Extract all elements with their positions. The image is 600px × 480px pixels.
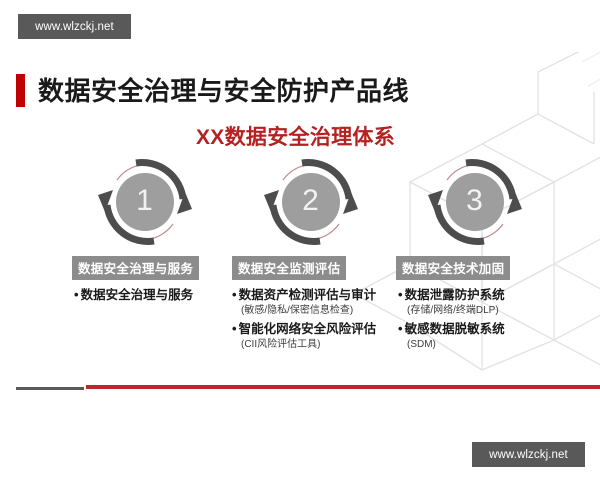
bullet-icon: • [398,321,403,338]
step-number-2: 2 [302,186,319,218]
list-item: •智能化网络安全风险评估 (CII风险评估工具) [232,321,393,351]
step-badge-1: 1 [95,152,195,252]
column-2-item-2-text: 智能化网络安全风险评估 [239,322,377,336]
column-3-item-2-sub: (SDM) [398,338,557,352]
column-2-item-2-main: •智能化网络安全风险评估 [232,321,393,338]
step-circle-2: 2 [282,173,340,231]
list-item: •数据安全治理与服务 [74,287,227,304]
column-2-item-1-sub: (敏感/隐私/保密信息检查) [232,304,393,318]
step-number-1: 1 [136,186,153,218]
column-2-items: •数据资产检测评估与审计 (敏感/隐私/保密信息检查) •智能化网络安全风险评估… [228,287,393,352]
title-accent-bar [16,74,25,107]
page-title-row: 数据安全治理与安全防护产品线 [16,74,409,107]
page-subtitle: XX数据安全治理体系 [196,121,395,151]
column-3-item-1-sub: (存储/网络/终端DLP) [398,304,557,318]
content-columns: 1 数据安全治理与服务 •数据安全治理与服务 [0,152,600,352]
bottom-divider [0,385,600,391]
column-1-items: •数据安全治理与服务 [62,287,227,304]
column-2-item-1-main: •数据资产检测评估与审计 [232,287,393,304]
column-3-heading: 数据安全技术加固 [396,256,510,280]
watermark-bottom: www.wlzckj.net [472,442,585,467]
column-3-item-2-main: •敏感数据脱敏系统 [398,321,557,338]
divider-gray-segment [16,387,84,390]
bullet-icon: • [232,287,237,304]
list-item: •数据泄露防护系统 (存储/网络/终端DLP) [398,287,557,317]
watermark-top: www.wlzckj.net [18,14,131,39]
step-number-3: 3 [466,186,483,218]
bullet-icon: • [74,287,79,304]
column-2-heading-wrap: 数据安全监测评估 [228,252,393,280]
list-item: •数据资产检测评估与审计 (敏感/隐私/保密信息检查) [232,287,393,317]
column-3-item-1-text: 数据泄露防护系统 [405,288,505,302]
step-badge-3: 3 [425,152,525,252]
column-1-heading-wrap: 数据安全治理与服务 [62,252,227,280]
column-2-item-1-text: 数据资产检测评估与审计 [239,288,377,302]
column-1: 1 数据安全治理与服务 •数据安全治理与服务 [62,152,227,308]
slide-canvas: www.wlzckj.net 数据安全治理与安全防护产品线 XX数据安全治理体系… [0,0,600,480]
bullet-icon: • [398,287,403,304]
column-3-item-2-text: 敏感数据脱敏系统 [405,322,505,336]
column-1-heading: 数据安全治理与服务 [72,256,199,280]
column-3-items: •数据泄露防护系统 (存储/网络/终端DLP) •敏感数据脱敏系统 (SDM) [392,287,557,352]
column-3: 3 数据安全技术加固 •数据泄露防护系统 (存储/网络/终端DLP) •敏感数据… [392,152,557,356]
column-1-item-1-main: •数据安全治理与服务 [74,287,227,304]
step-circle-1: 1 [116,173,174,231]
column-2-item-2-sub: (CII风险评估工具) [232,338,393,352]
watermark-top-text: www.wlzckj.net [35,21,114,33]
step-badge-2: 2 [261,152,361,252]
column-2-heading: 数据安全监测评估 [232,256,346,280]
step-circle-3: 3 [446,173,504,231]
list-item: •敏感数据脱敏系统 (SDM) [398,321,557,351]
page-title: 数据安全治理与安全防护产品线 [38,78,409,104]
column-3-heading-wrap: 数据安全技术加固 [392,252,557,280]
watermark-bottom-text: www.wlzckj.net [489,449,568,461]
bullet-icon: • [232,321,237,338]
divider-red-segment [86,385,600,389]
column-1-item-1-text: 数据安全治理与服务 [81,288,194,302]
column-3-item-1-main: •数据泄露防护系统 [398,287,557,304]
column-2: 2 数据安全监测评估 •数据资产检测评估与审计 (敏感/隐私/保密信息检查) •… [228,152,393,356]
